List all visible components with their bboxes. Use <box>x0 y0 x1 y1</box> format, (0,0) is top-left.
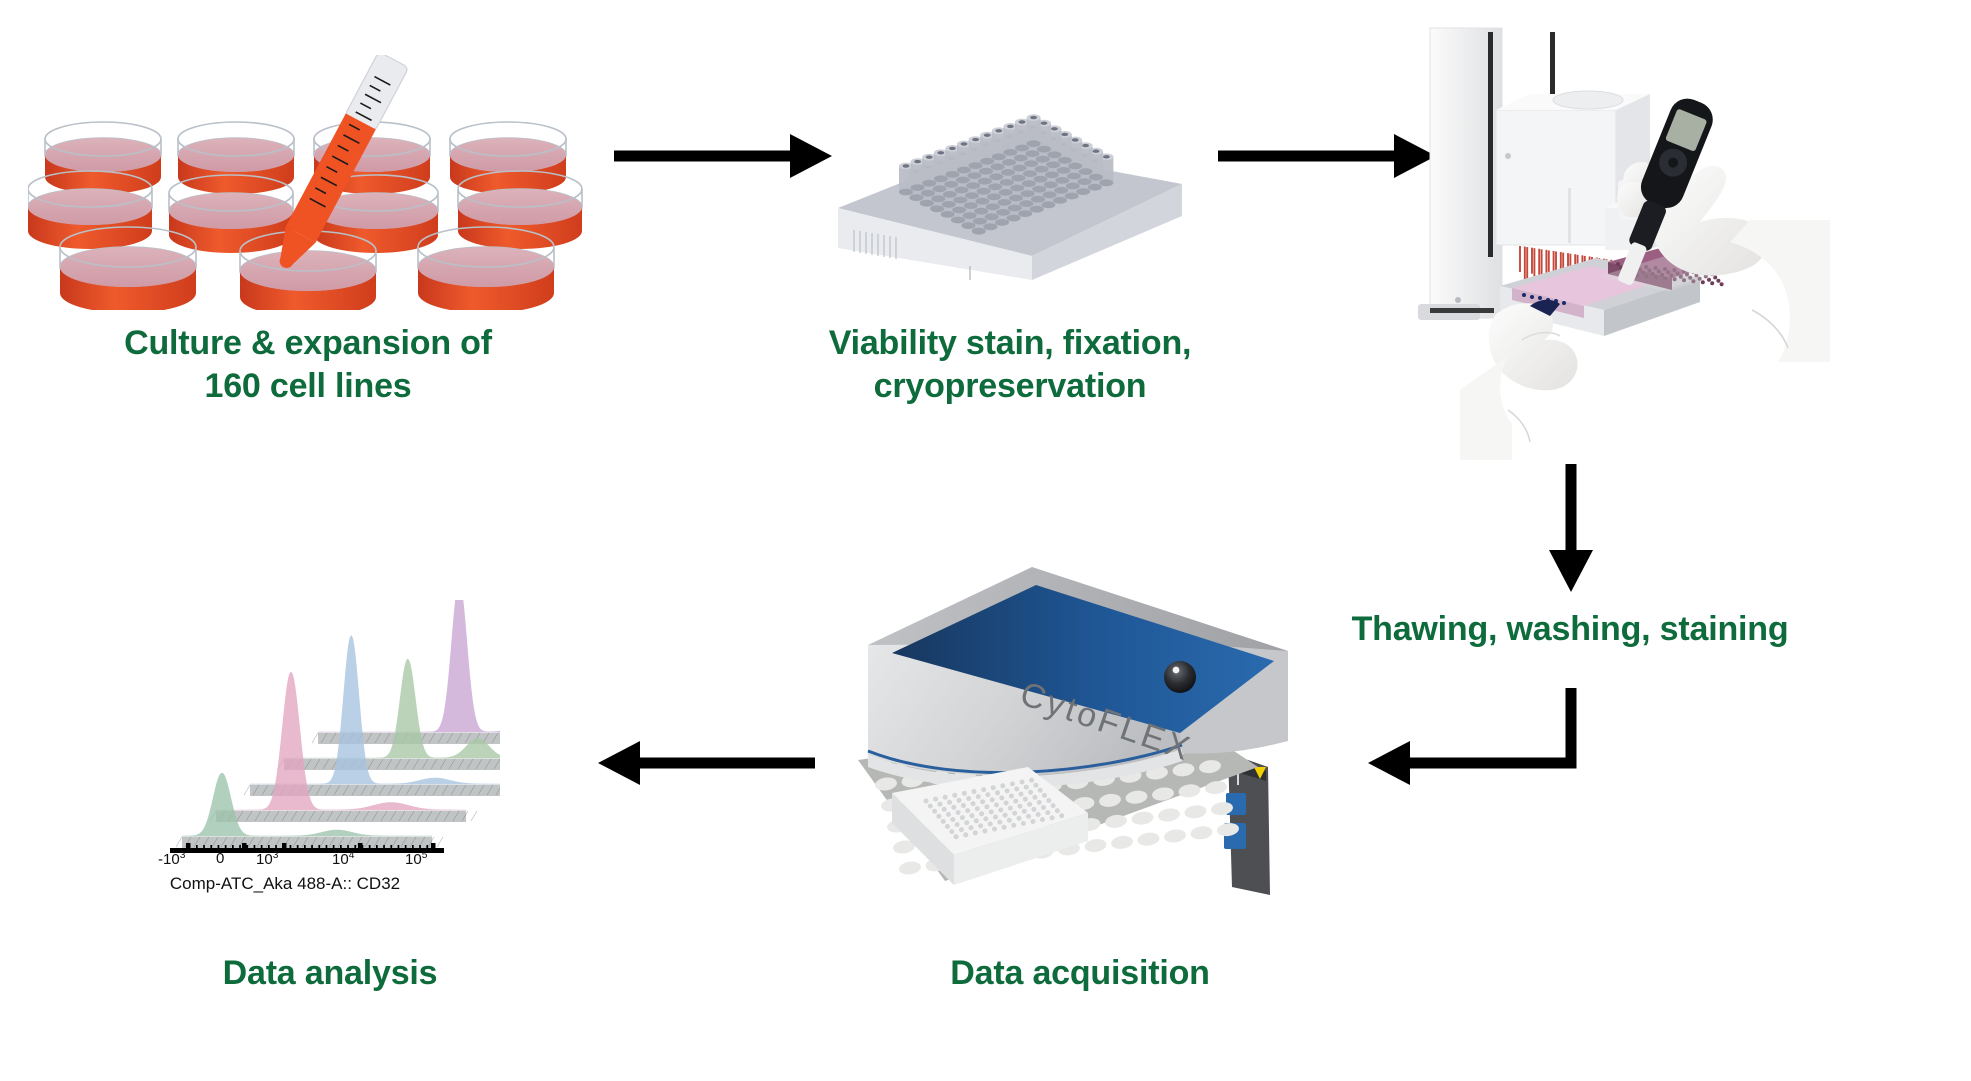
xtick-3: 104 <box>332 850 354 868</box>
cytoflex-indicator-lens <box>1164 661 1196 693</box>
arrow-acquisition-to-analysis <box>598 741 815 785</box>
illustration-cryovial-rack <box>820 80 1200 280</box>
illustration-ridgeline-plot: -103 0 103 104 105 Comp-ATC_Aka 488-A:: … <box>160 600 500 900</box>
caption-stain-fix-cryo: Viability stain, fixation, cryopreservat… <box>760 322 1260 407</box>
arrow-thawing-to-acquisition <box>1368 688 1571 785</box>
caption-thaw-wash-stain: Thawing, washing, staining <box>1330 608 1810 651</box>
arrow-culture-to-rack <box>614 134 832 178</box>
xtick-4: 105 <box>405 850 427 868</box>
illustration-plate-washer <box>1400 10 1830 460</box>
ridge-density-curves <box>182 600 500 836</box>
xtick-0: -103 <box>158 850 185 868</box>
xtick-1: 0 <box>216 850 224 867</box>
caption-acquisition: Data acquisition <box>845 952 1315 995</box>
ridge-x-axis-title: Comp-ATC_Aka 488-A:: CD32 <box>135 874 435 894</box>
caption-analysis: Data analysis <box>120 952 540 995</box>
illustration-cytoflex: CytoFLEX <box>850 555 1320 915</box>
workflow-diagram: Culture & expansion of 160 cell lines <box>0 0 1971 1081</box>
xtick-2: 103 <box>256 850 278 868</box>
arrow-washer-to-thawing <box>1549 464 1593 592</box>
caption-culture: Culture & expansion of 160 cell lines <box>48 322 568 407</box>
illustration-petri-dishes <box>28 55 598 310</box>
